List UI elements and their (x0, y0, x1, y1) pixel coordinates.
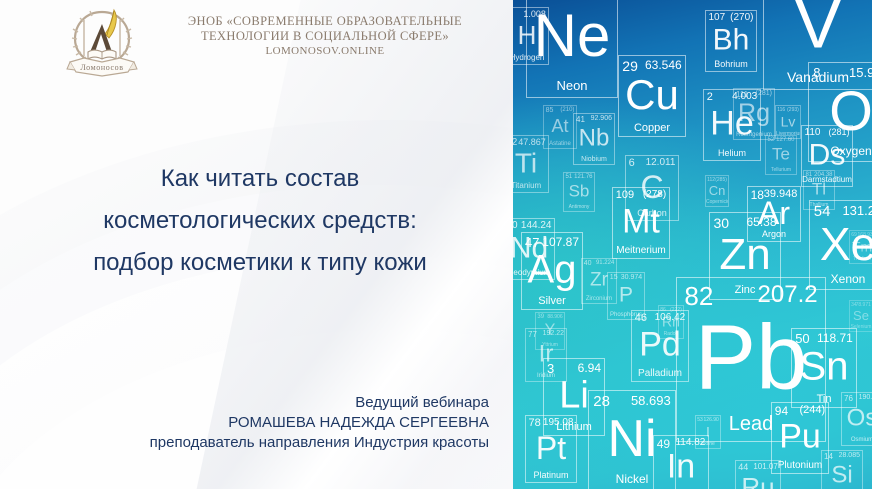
lomonosov-logo: Ломоносов (62, 6, 142, 78)
element-symbol: Ag (522, 248, 582, 293)
org-title-line1: ЭНОБ «СОВРЕМЕННЫЕ ОБРАЗОВАТЕЛЬНЫЕ (148, 14, 502, 29)
element-atomic-number: 3 (547, 361, 554, 376)
slide-title-line3: подбор косметики к типу кожи (40, 242, 480, 284)
element-tile-nb: 4192.906NbNiobium (573, 113, 615, 165)
element-name: Niobium (574, 156, 614, 163)
element-tile-pt: 78195.08PtPlatinum (525, 415, 577, 483)
element-atomic-mass: (244) (800, 404, 826, 416)
element-atomic-mass: 168.93 (858, 232, 872, 238)
element-atomic-number: 111 (736, 90, 748, 99)
element-symbol: Pd (632, 326, 688, 365)
element-atomic-mass: (285) (715, 177, 727, 183)
org-website: LOMONOSOV.ONLINE (148, 44, 502, 59)
slide-title-line2: косметологических средств: (40, 200, 480, 242)
element-tile-lv: 116(293)LvLivermorium (775, 105, 801, 139)
element-symbol: Sn (792, 345, 856, 390)
background-swoosh-3 (0, 255, 513, 489)
element-atomic-number: 2 (707, 91, 713, 103)
element-atomic-mass: 58.693 (631, 393, 671, 408)
element-atomic-mass: 190.23 (859, 394, 872, 401)
element-atomic-mass: (270) (730, 12, 753, 23)
presenter-name: РОМАШЕВА НАДЕЖДА СЕРГЕЕВНА (59, 413, 489, 433)
element-symbol: Cn (706, 183, 728, 198)
presenter-block: Ведущий вебинара РОМАШЕВА НАДЕЖДА СЕРГЕЕ… (59, 393, 489, 453)
element-name: Palladium (632, 368, 688, 379)
element-atomic-number: 52 (768, 137, 775, 143)
element-atomic-number: 78 (529, 417, 541, 429)
element-symbol: Nb (574, 124, 614, 152)
element-atomic-mass: 30.974 (621, 274, 642, 281)
element-symbol: Cu (619, 71, 685, 119)
element-atomic-mass: 107.87 (542, 235, 579, 249)
element-tile-rg: 111(281)RgRoentgenium (733, 88, 775, 140)
element-atomic-mass: 127.60 (776, 137, 794, 143)
logo-ribbon-text: Ломоносов (80, 63, 123, 72)
element-atomic-number: 53 (697, 417, 703, 423)
element-symbol: V (764, 0, 872, 63)
element-atomic-mass: 63.546 (645, 58, 682, 72)
element-name: Tellurium (766, 167, 796, 173)
element-atomic-mass: (278) (643, 189, 666, 200)
element-symbol: Tm (850, 239, 872, 255)
element-atomic-mass: 12.011 (646, 157, 676, 168)
periodic-table-image: 1020.180NeNeon11.008HHydrogen2963.546CuC… (513, 0, 872, 489)
presenter-position: преподаватель направления Индустрия крас… (59, 433, 489, 453)
element-atomic-number: 112 (707, 177, 715, 183)
element-atomic-mass: 192.22 (543, 330, 564, 337)
element-atomic-mass: 47.867 (518, 137, 546, 147)
element-name: Osmium (842, 437, 872, 443)
element-atomic-mass: 101.07 (753, 462, 777, 471)
element-symbol: Pu (772, 418, 828, 457)
element-atomic-mass: 28.085 (839, 452, 860, 459)
slide-title: Как читать состав косметологических сред… (40, 158, 480, 284)
element-name: Platinum (526, 470, 576, 480)
element-symbol: P (608, 284, 644, 308)
presenter-role: Ведущий вебинара (59, 393, 489, 413)
element-symbol: Se (850, 308, 872, 323)
element-atomic-mass: 92.906 (591, 115, 612, 122)
element-name: Copper (619, 122, 685, 134)
element-symbol: Ru (736, 472, 780, 489)
element-atomic-mass: 88.906 (547, 314, 562, 320)
element-atomic-mass: 121.76 (574, 174, 592, 180)
element-atomic-mass: 78.971 (856, 302, 871, 308)
element-atomic-mass: (281) (756, 90, 772, 97)
element-name: Hydrogen (513, 53, 548, 62)
element-name: Antimony (564, 204, 594, 210)
element-tile-h: 11.008HHydrogen (513, 7, 549, 65)
element-symbol: Si (822, 461, 862, 489)
org-title-line2: ТЕХНОЛОГИИ В СОЦИАЛЬНОЙ СФЕРЕ» (148, 29, 502, 44)
element-symbol: Pt (526, 430, 576, 467)
element-atomic-mass: 106.42 (655, 312, 686, 323)
element-symbol: Te (766, 145, 796, 165)
presentation-slide: Ломоносов ЭНОБ «СОВРЕМЕННЫЕ ОБРАЗОВАТЕЛЬ… (0, 0, 872, 489)
element-atomic-mass: 144.24 (521, 220, 552, 231)
element-name: Meitnerium (613, 245, 669, 256)
element-symbol: Sb (564, 182, 594, 202)
element-atomic-mass: 126.90 (704, 417, 719, 423)
element-atomic-mass: 1.008 (523, 9, 546, 19)
element-atomic-number: 109 (616, 189, 634, 201)
element-symbol: Ti (513, 147, 548, 179)
element-tile-cu: 2963.546CuCopper (618, 55, 686, 137)
element-atomic-number: 69 (851, 232, 857, 238)
element-symbol: Zn (710, 230, 780, 280)
element-name: Thulium (850, 256, 872, 262)
element-tile-tm: 69168.93TmThulium (849, 230, 872, 264)
element-atomic-number: 14 (824, 452, 833, 461)
slide-title-line1: Как читать состав (40, 158, 480, 200)
element-atomic-mass: (281) (828, 127, 849, 137)
element-symbol: Os (842, 404, 872, 432)
element-atomic-mass: 91.224 (596, 260, 614, 266)
element-symbol: I (696, 424, 720, 440)
element-name: Selenium (850, 324, 872, 330)
element-name: Silver (522, 295, 582, 307)
element-symbol: At (544, 116, 576, 137)
element-atomic-number: 15 (610, 274, 618, 281)
element-tile-bh: 107(270)BhBohrium (705, 10, 757, 72)
element-atomic-number: 94 (775, 404, 788, 418)
element-atomic-number: 44 (738, 462, 748, 472)
element-name: Helium (704, 148, 760, 158)
element-atomic-mass: (293) (787, 107, 799, 113)
element-tile-ru: 44101.07RuRuthenium (735, 460, 781, 489)
element-atomic-mass: 65.38 (746, 215, 776, 229)
element-atomic-number: 6 (629, 157, 635, 169)
element-tile-cn: 112(285)CnCopernicium (705, 175, 729, 207)
element-atomic-number: 39 (537, 314, 544, 320)
element-atomic-number: 46 (635, 312, 647, 324)
element-tile-se: 3478.971SeSelenium (849, 300, 872, 332)
element-atomic-number: 30 (714, 215, 730, 231)
element-atomic-number: 85 (546, 107, 554, 114)
element-tile-os: 76190.23OsOsmium (841, 392, 872, 446)
element-atomic-number: 107 (709, 12, 726, 23)
organization-title: ЭНОБ «СОВРЕМЕННЫЕ ОБРАЗОВАТЕЛЬНЫЕ ТЕХНОЛ… (148, 6, 502, 59)
element-symbol: Rg (734, 99, 774, 128)
element-atomic-number: 116 (777, 107, 785, 113)
element-atomic-number: 110 (805, 127, 821, 138)
element-atomic-mass: 118.71 (817, 331, 853, 345)
element-tile-mt: 109(278)MtMeitnerium (612, 187, 670, 259)
element-name: Titanium (513, 181, 548, 190)
element-atomic-mass: (210) (560, 107, 574, 113)
element-atomic-number: 77 (528, 330, 537, 339)
element-tile-ag: 47107.87AgSilver (521, 232, 583, 310)
element-name: Copernicium (706, 199, 728, 205)
element-symbol: Mt (613, 203, 669, 242)
element-atomic-number: 50 (795, 331, 809, 346)
element-atomic-number: 41 (576, 115, 585, 124)
element-atomic-number: 81 (806, 172, 813, 178)
element-atomic-number: 76 (844, 394, 853, 403)
element-atomic-mass: 131.29 (842, 203, 872, 218)
element-atomic-number: 40 (584, 260, 592, 267)
element-atomic-mass: 6.94 (578, 361, 601, 375)
element-atomic-number: 28 (593, 393, 610, 410)
element-tile-te: 52127.60TeTellurium (765, 135, 797, 175)
element-name: Iodine (696, 441, 720, 447)
element-tile-ti: 2247.867TiTitanium (513, 135, 549, 193)
slide-header: Ломоносов ЭНОБ «СОВРЕМЕННЫЕ ОБРАЗОВАТЕЛЬ… (62, 6, 502, 78)
element-atomic-mass: 204.38 (814, 172, 832, 178)
element-atomic-mass: 195.08 (543, 417, 574, 428)
element-tile-i: 53126.90IIodine (695, 415, 721, 449)
element-atomic-number: 51 (566, 174, 573, 180)
logo-icon: Ломоносов (62, 6, 142, 78)
element-symbol: Tl (804, 180, 834, 200)
element-name: Neon (527, 78, 617, 93)
element-tile-sb: 51121.76SbAntimony (563, 172, 595, 212)
element-atomic-number: 60 (513, 220, 518, 231)
element-name: Bohrium (706, 59, 756, 69)
element-symbol: Lv (776, 114, 800, 130)
element-symbol: H (513, 20, 548, 51)
element-tile-si: 1428.085SiSilicon (821, 450, 863, 489)
element-symbol: In (654, 448, 708, 487)
element-tile-pd: 46106.42PdPalladium (631, 310, 689, 382)
element-symbol: Ds (802, 138, 852, 172)
element-symbol: Bh (706, 23, 756, 57)
